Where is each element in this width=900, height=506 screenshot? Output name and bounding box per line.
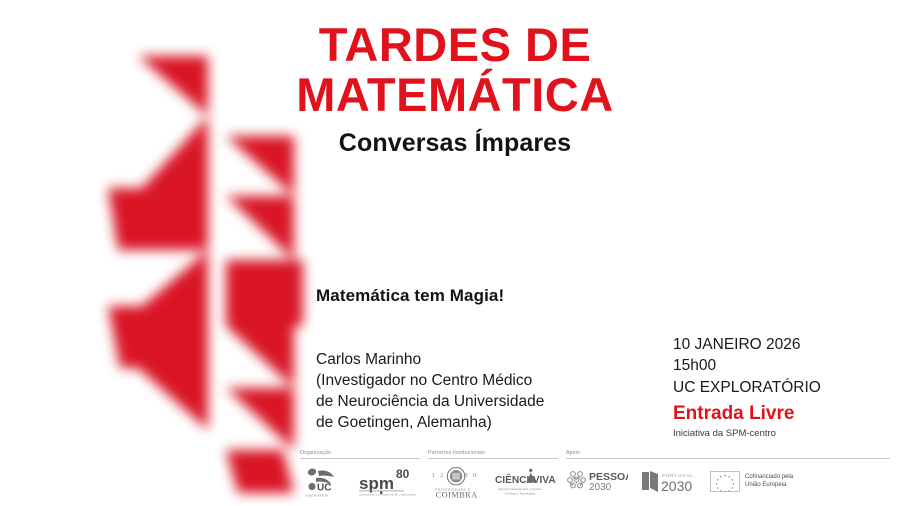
event-details: 10 JANEIRO 2026 15h00 UC EXPLORATÓRIO En… <box>673 334 821 439</box>
sponsor-group-organizacao: Organização UC exploratório spm 80 <box>300 450 420 502</box>
speaker-block: Carlos Marinho (Investigador no Centro M… <box>316 350 544 434</box>
portugal-2030-logo: PORTUGAL 2030 <box>638 466 700 498</box>
headline-line-1: TARDES DE <box>250 22 660 68</box>
ciencia-viva-logo: CIÊNCIA VIVA Agência Nacional para a Cul… <box>494 465 558 499</box>
pessoas-2030-logo: PESSOAS 2030 <box>566 466 628 498</box>
sponsor-group-apoio: Apoio PESSOAS 2030 <box>566 450 890 502</box>
event-time: 15h00 <box>673 355 821 376</box>
sponsor-group-label: Organização <box>300 450 420 458</box>
speaker-affiliation-line-2: de Neurociência da Universidade <box>316 392 544 413</box>
uc-exploratorio-logo: UC exploratório <box>300 465 348 499</box>
poster-headline: TARDES DE MATEMÁTICA Conversas Ímpares <box>250 22 660 158</box>
eu-caption-line-2: União Europeia <box>745 482 793 490</box>
sponsor-group-label: Apoio <box>566 450 890 458</box>
sponsor-group-label: Parceiros Institucionais <box>428 450 558 458</box>
svg-text:sociedade portuguesa de matemá: sociedade portuguesa de matemática <box>359 492 416 496</box>
sponsor-logo-strip: Organização UC exploratório spm 80 <box>300 450 890 502</box>
svg-text:spm: spm <box>359 474 394 493</box>
svg-text:COIMBRA: COIMBRA <box>436 490 478 499</box>
headline-subtitle: Conversas Ímpares <box>250 129 660 158</box>
svg-text:2030: 2030 <box>589 482 612 493</box>
headline-line-2: MATEMÁTICA <box>250 72 660 118</box>
svg-text:9 0: 9 0 <box>465 473 478 479</box>
speaker-affiliation-line-1: (Investigador no Centro Médico <box>316 371 544 392</box>
talk-title: Matemática tem Magia! <box>316 286 504 306</box>
svg-text:UC: UC <box>317 482 331 493</box>
organiser-note: Iniciativa da SPM-centro <box>673 428 821 439</box>
svg-text:Científica e Tecnológica: Científica e Tecnológica <box>504 491 536 495</box>
svg-text:2030: 2030 <box>661 478 692 494</box>
spm-80-logo: spm 80 sociedade portuguesa de matemátic… <box>358 465 416 499</box>
speaker-name: Carlos Marinho <box>316 350 544 371</box>
sponsor-group-parceiros: Parceiros Institucionais 1 2 9 0 UNIVERS… <box>428 450 558 502</box>
event-venue: UC EXPLORATÓRIO <box>673 377 821 398</box>
admission-badge: Entrada Livre <box>673 403 821 425</box>
svg-text:80: 80 <box>396 467 410 481</box>
eu-flag-icon <box>710 471 740 492</box>
poster-canvas: TARDES DE MATEMÁTICA Conversas Ímpares M… <box>0 0 900 506</box>
svg-text:VIVA: VIVA <box>533 474 557 485</box>
universidade-de-coimbra-logo: 1 2 9 0 UNIVERSIDADE D COIMBRA <box>428 464 484 500</box>
svg-text:exploratório: exploratório <box>306 493 329 497</box>
svg-text:1 2: 1 2 <box>432 473 445 479</box>
eu-caption-line-1: Cofinanciado pela <box>745 474 793 482</box>
uniao-europeia-logo: Cofinanciado pela União Europeia <box>710 471 793 492</box>
event-date: 10 JANEIRO 2026 <box>673 334 821 355</box>
speaker-affiliation-line-3: de Goetingen, Alemanha) <box>316 413 544 434</box>
